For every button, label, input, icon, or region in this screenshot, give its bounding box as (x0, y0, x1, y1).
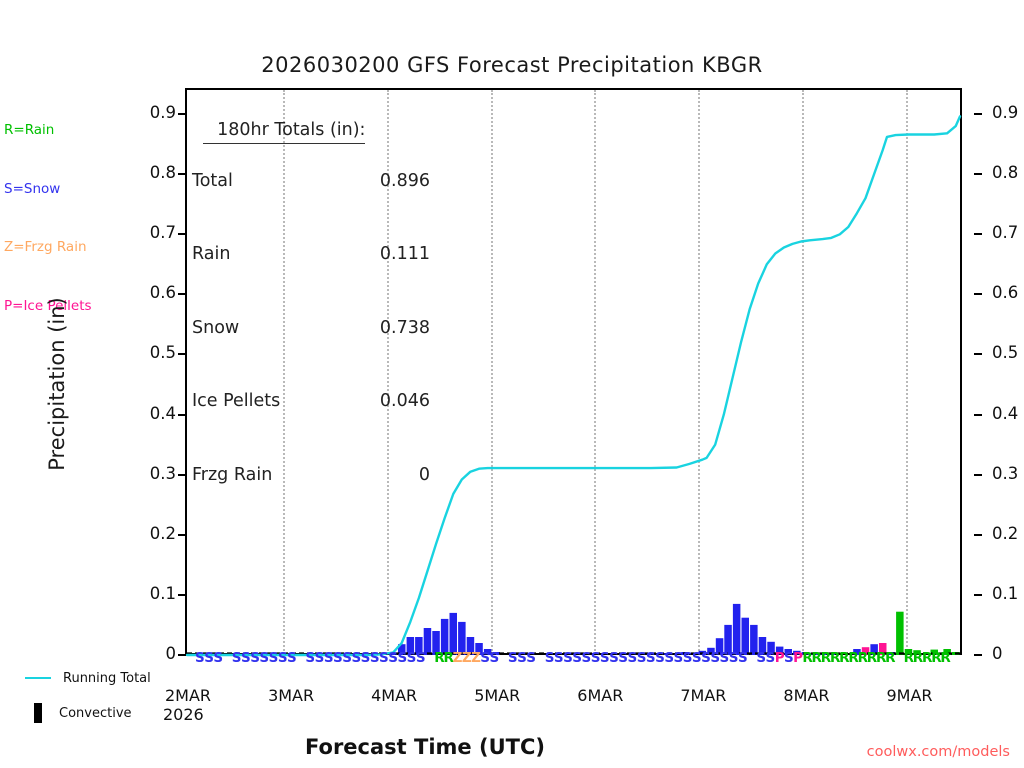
y-tick-label-right-0.1: 0.1 (992, 584, 1024, 603)
y-tick-mark-left-0.8 (178, 173, 186, 175)
y-tick-label-right-0.7: 0.7 (992, 223, 1024, 242)
y-tick-label-left-0.2: 0.2 (130, 524, 176, 543)
ptype-char-S: S (738, 651, 748, 666)
totals-value-frzg-rain: 0 (344, 463, 430, 488)
totals-label-snow: Snow (192, 316, 344, 341)
x-tick-label-3MAR: 3MAR (268, 686, 314, 705)
y-tick-mark-right-0.1 (974, 594, 982, 596)
precip-type-character-row: SSSSSSSSSSSSSSSSSSSSSSSRRZZZSSSSSSSSSSSS… (187, 651, 960, 668)
y-tick-mark-right-0.5 (974, 353, 982, 355)
y-tick-label-right-0.3: 0.3 (992, 464, 1024, 483)
y-tick-mark-left-0.4 (178, 414, 186, 416)
totals-value-total: 0.896 (344, 169, 430, 194)
y-tick-label-left-0.6: 0.6 (130, 283, 176, 302)
ptype-char-S: S (213, 651, 223, 666)
series-legend: Running Total Convective (10, 666, 151, 726)
x-axis-year-label: 2026 (163, 705, 204, 724)
legend-entry-convective: Convective (10, 700, 151, 726)
x-tick-label-2MAR: 2MAR (165, 686, 211, 705)
x-tick-label-7MAR: 7MAR (680, 686, 726, 705)
totals-row-ice-pellets: Ice Pellets 0.046 (192, 389, 430, 414)
y-tick-label-left-0: 0 (130, 644, 176, 663)
totals-value-rain: 0.111 (344, 242, 430, 267)
y-tick-mark-right-0.8 (974, 173, 982, 175)
totals-row-rain: Rain 0.111 (192, 242, 430, 267)
y-tick-mark-left-0 (178, 654, 186, 656)
y-tick-mark-left-0.3 (178, 474, 186, 476)
x-axis-labels: 2MAR3MAR4MAR5MAR6MAR7MAR8MAR9MAR (0, 686, 1024, 726)
totals-label-ice-pellets: Ice Pellets (192, 389, 344, 414)
y-tick-label-left-0.1: 0.1 (130, 584, 176, 603)
y-tick-mark-left-0.7 (178, 233, 186, 235)
y-axis-title: Precipitation (in) (45, 174, 69, 594)
y-tick-label-right-0.8: 0.8 (992, 163, 1024, 182)
y-tick-label-right-0.6: 0.6 (992, 283, 1024, 302)
legend-label-running-total: Running Total (63, 671, 151, 686)
x-tick-label-6MAR: 6MAR (577, 686, 623, 705)
x-axis-title: Forecast Time (UTC) (185, 735, 665, 759)
convective-bar-icon (34, 703, 42, 723)
ptype-char-R: R (885, 651, 895, 666)
y-tick-label-right-0: 0 (992, 644, 1024, 663)
totals-row-frzg-rain: Frzg Rain 0 (192, 463, 430, 488)
legend-item-rain: R=Rain (4, 121, 92, 141)
y-tick-label-left-0.4: 0.4 (130, 404, 176, 423)
totals-row-total: Total 0.896 (192, 169, 430, 194)
y-tick-mark-left-0.2 (178, 534, 186, 536)
x-tick-label-8MAR: 8MAR (783, 686, 829, 705)
y-tick-label-right-0.9: 0.9 (992, 103, 1024, 122)
x-tick-label-9MAR: 9MAR (886, 686, 932, 705)
y-axis-left-labels: 0.90.80.70.60.50.40.30.20.10 (130, 0, 176, 768)
totals-value-ice-pellets: 0.046 (344, 389, 430, 414)
y-tick-mark-left-0.9 (178, 113, 186, 115)
totals-label-total: Total (192, 169, 344, 194)
totals-box-header: 180hr Totals (in): (203, 118, 365, 145)
x-tick-label-4MAR: 4MAR (371, 686, 417, 705)
ptype-char-S: S (489, 651, 499, 666)
running-total-line-icon (25, 677, 51, 679)
y-tick-mark-left-0.5 (178, 353, 186, 355)
y-tick-label-left-0.8: 0.8 (130, 163, 176, 182)
totals-label-frzg-rain: Frzg Rain (192, 463, 344, 488)
totals-value-snow: 0.738 (344, 316, 430, 341)
y-tick-label-right-0.4: 0.4 (992, 404, 1024, 423)
totals-summary-box: 180hr Totals (in): Total 0.896 Rain 0.11… (192, 93, 430, 512)
y-tick-mark-right-0 (974, 654, 982, 656)
y-tick-label-left-0.5: 0.5 (130, 343, 176, 362)
y-tick-mark-right-0.9 (974, 113, 982, 115)
y-tick-label-right-0.2: 0.2 (992, 524, 1024, 543)
y-tick-mark-left-0.1 (178, 594, 186, 596)
totals-label-rain: Rain (192, 242, 344, 267)
y-axis-right-labels: 0.90.80.70.60.50.40.30.20.10 (972, 0, 1024, 768)
y-tick-mark-right-0.2 (974, 534, 982, 536)
totals-row-snow: Snow 0.738 (192, 316, 430, 341)
ptype-char-S: S (526, 651, 536, 666)
y-tick-label-left-0.7: 0.7 (130, 223, 176, 242)
watermark: coolwx.com/models (700, 744, 1010, 760)
y-tick-mark-right-0.3 (974, 474, 982, 476)
y-tick-label-right-0.5: 0.5 (992, 343, 1024, 362)
y-tick-mark-right-0.6 (974, 293, 982, 295)
ptype-char-S: S (287, 651, 297, 666)
x-tick-label-5MAR: 5MAR (474, 686, 520, 705)
y-tick-mark-left-0.6 (178, 293, 186, 295)
y-tick-mark-right-0.7 (974, 233, 982, 235)
legend-label-convective: Convective (59, 706, 132, 721)
ptype-char-S: S (416, 651, 426, 666)
y-tick-label-left-0.3: 0.3 (130, 464, 176, 483)
legend-entry-running-total: Running Total (10, 666, 151, 690)
ptype-char-R: R (940, 651, 950, 666)
y-tick-mark-right-0.4 (974, 414, 982, 416)
y-tick-label-left-0.9: 0.9 (130, 103, 176, 122)
